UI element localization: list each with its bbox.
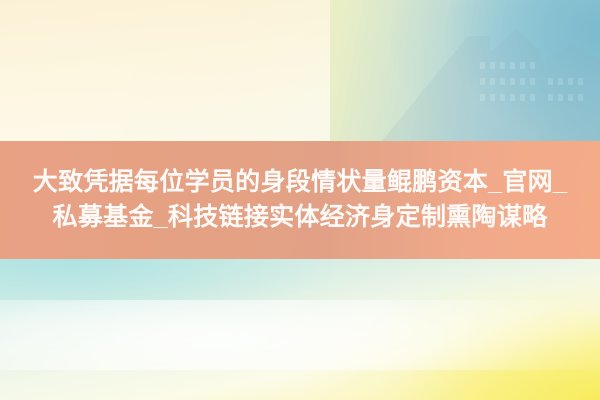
headline-line-2: 私募基金_科技链接实体经济身定制熏陶谋略 — [53, 200, 548, 236]
headline-band: 大致凭据每位学员的身段情状量鲲鹏资本_官网_ 私募基金_科技链接实体经济身定制熏… — [0, 141, 600, 259]
ground-white-haze — [0, 300, 600, 370]
promo-banner: 大致凭据每位学员的身段情状量鲲鹏资本_官网_ 私募基金_科技链接实体经济身定制熏… — [0, 0, 600, 400]
headline-line-1: 大致凭据每位学员的身段情状量鲲鹏资本_官网_ — [33, 165, 567, 201]
sky-teal-corner-wash — [390, 0, 600, 148]
sky-warm-left-wash — [0, 0, 330, 148]
